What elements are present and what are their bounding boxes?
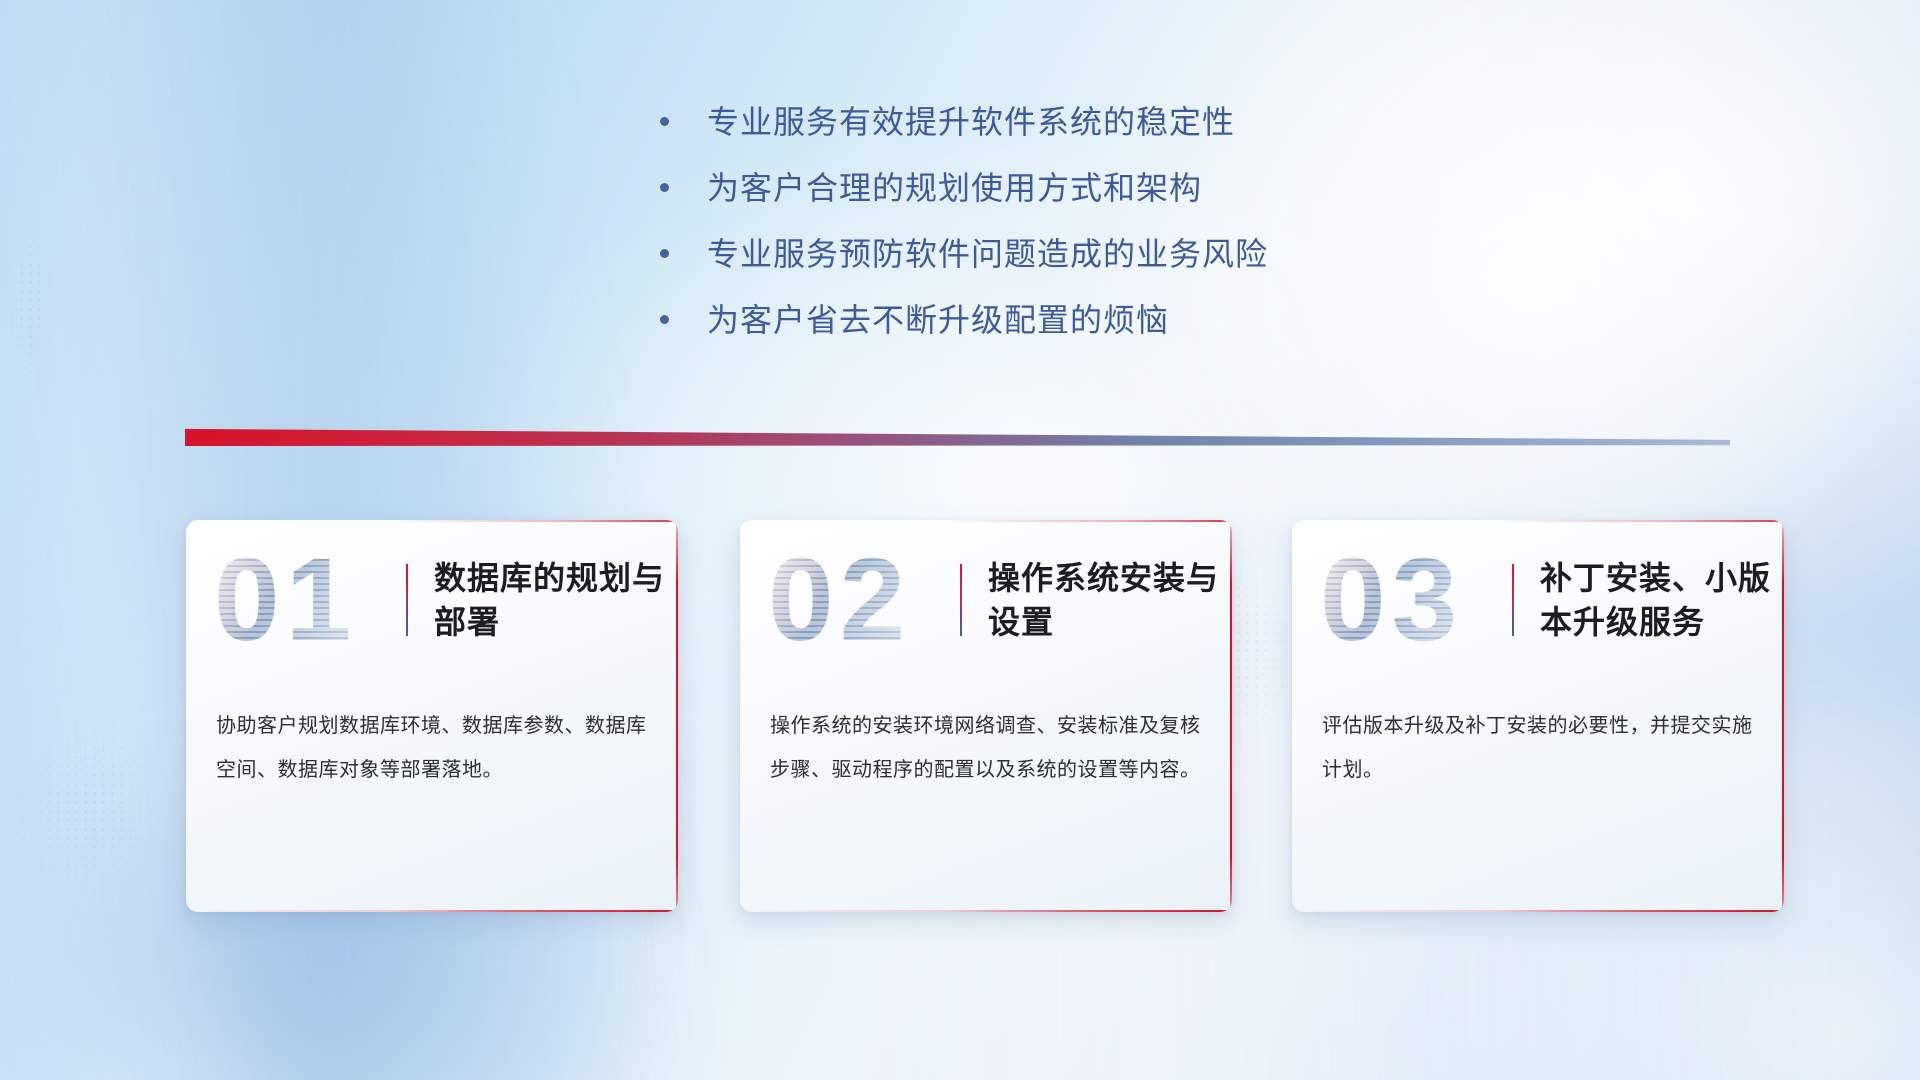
bullet-item: 专业服务有效提升软件系统的稳定性 [660,104,1460,140]
bullet-item-label: 为客户省去不断升级配置的烦恼 [707,302,1169,338]
service-card[interactable]: 03 补丁安装、小版本升级服务 评估版本升级及补丁安装的必要性，并提交实施计划。 [1292,520,1784,912]
bullet-dot-icon [660,249,669,258]
section-divider [185,424,1730,446]
service-card[interactable]: 02 操作系统安装与设置 操作系统的安装环境网络调查、安装标准及复核步骤、驱动程… [740,520,1232,912]
bullet-item: 专业服务预防软件问题造成的业务风险 [660,236,1460,272]
card-title: 数据库的规划与部署 [434,556,678,644]
bullet-dot-icon [660,117,669,126]
card-title: 操作系统安装与设置 [988,556,1232,644]
card-edge-bottom-accent [740,910,1232,912]
slide-canvas: 专业服务有效提升软件系统的稳定性 为客户合理的规划使用方式和架构 专业服务预防软… [0,0,1920,1080]
bullet-dot-icon [660,315,669,324]
card-description: 协助客户规划数据库环境、数据库参数、数据库空间、数据库对象等部署落地。 [186,680,678,792]
card-title-rule [406,564,408,636]
card-title-rule [960,564,962,636]
bullet-item: 为客户省去不断升级配置的烦恼 [660,302,1460,338]
bullet-item: 为客户合理的规划使用方式和架构 [660,170,1460,206]
service-card-group: 01 数据库的规划与部署 协助客户规划数据库环境、数据库参数、数据库空间、数据库… [0,520,1920,940]
bullet-dot-icon [660,183,669,192]
card-header: 01 数据库的规划与部署 [186,520,678,680]
bullet-item-label: 专业服务有效提升软件系统的稳定性 [707,104,1235,140]
benefits-bullet-list: 专业服务有效提升软件系统的稳定性 为客户合理的规划使用方式和架构 专业服务预防软… [660,104,1460,368]
card-header: 02 操作系统安装与设置 [740,520,1232,680]
bullet-item-label: 专业服务预防软件问题造成的业务风险 [707,236,1268,272]
card-description: 操作系统的安装环境网络调查、安装标准及复核步骤、驱动程序的配置以及系统的设置等内… [740,680,1232,792]
card-description: 评估版本升级及补丁安装的必要性，并提交实施计划。 [1292,680,1784,792]
bullet-item-label: 为客户合理的规划使用方式和架构 [707,170,1202,206]
card-header: 03 补丁安装、小版本升级服务 [1292,520,1784,680]
card-edge-bottom-accent [186,910,678,912]
service-card[interactable]: 01 数据库的规划与部署 协助客户规划数据库环境、数据库参数、数据库空间、数据库… [186,520,678,912]
card-step-number: 03 [1320,541,1506,659]
card-title-rule [1512,564,1514,636]
card-edge-bottom-accent [1292,910,1784,912]
section-divider-bar [185,424,1730,446]
dot-texture-left [8,206,54,406]
card-title: 补丁安装、小版本升级服务 [1540,556,1784,644]
card-step-number: 02 [768,541,954,659]
card-step-number: 01 [214,541,400,659]
